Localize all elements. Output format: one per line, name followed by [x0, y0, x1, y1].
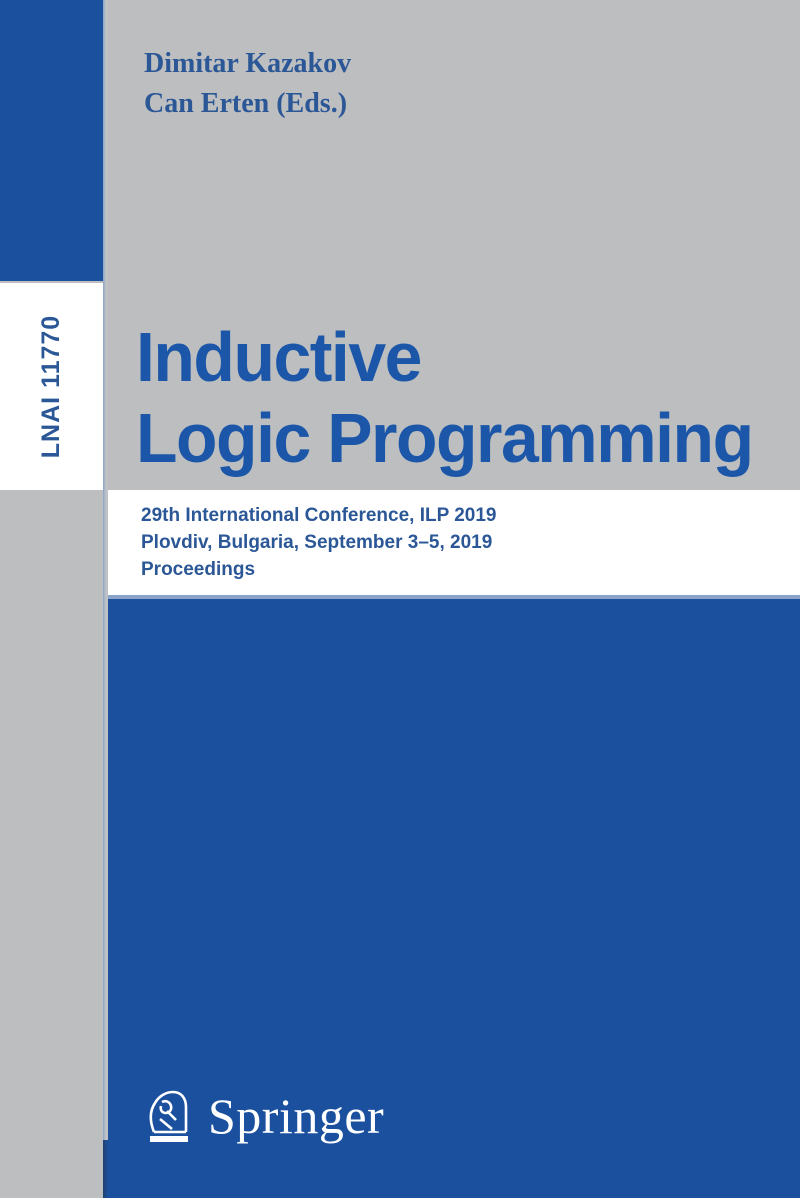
series-number-text: LNAI 11770 [37, 315, 66, 458]
book-cover: LNAI 11770 Dimitar Kazakov Can Erten (Ed… [0, 0, 800, 1198]
editors-block: Dimitar Kazakov Can Erten (Eds.) [144, 44, 704, 124]
subtitle-line-3: Proceedings [141, 557, 761, 584]
springer-knight-icon [140, 1086, 194, 1146]
spine-bottom-block [0, 1140, 103, 1198]
editor-name-1: Dimitar Kazakov [144, 44, 704, 84]
publisher-logo: Springer [140, 1086, 384, 1146]
book-subtitle: 29th International Conference, ILP 2019 … [141, 503, 761, 584]
subtitle-line-2: Plovdiv, Bulgaria, September 3–5, 2019 [141, 530, 761, 557]
book-title-line-1: Inductive [136, 317, 776, 398]
spine-edge-highlight-bottom [103, 1140, 108, 1198]
spine-blue-top-block [0, 0, 103, 281]
publisher-name: Springer [208, 1087, 384, 1145]
editor-name-2: Can Erten (Eds.) [144, 84, 704, 124]
book-title-line-2: Logic Programming [136, 398, 776, 479]
book-title: Inductive Logic Programming [136, 317, 776, 479]
spine-gray-block [0, 490, 103, 1140]
subtitle-line-1: 29th International Conference, ILP 2019 [141, 503, 761, 530]
spine-edge-highlight [103, 0, 108, 1198]
series-number-label: LNAI 11770 [0, 283, 103, 490]
